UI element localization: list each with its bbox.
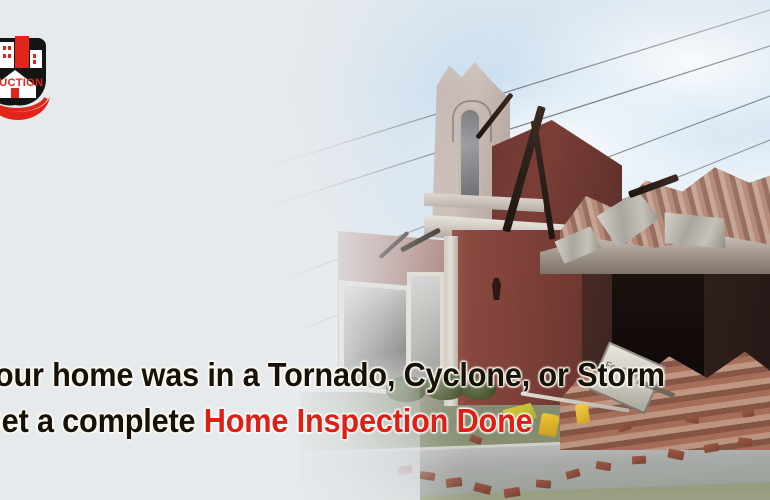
- headline-line-2-accent: Home Inspection Done: [204, 402, 533, 439]
- headline: your home was in a Tornado, Cyclone, or …: [0, 352, 678, 444]
- scattered-brick: [738, 437, 753, 446]
- headline-line-1-text: your home was in a Tornado, Cyclone, or …: [0, 356, 665, 393]
- storm-inspection-banner: For Sale: [0, 0, 770, 500]
- headline-line-2: Get a complete Home Inspection Done: [0, 398, 629, 444]
- logo-wordmark: TRUCTION: [0, 77, 43, 89]
- headline-line-1: your home was in a Tornado, Cyclone, or …: [0, 352, 629, 398]
- construction-company-logo[interactable]: TRUCTION: [0, 28, 70, 120]
- headline-line-2-prefix: Get a complete: [0, 402, 204, 439]
- scattered-brick: [536, 479, 552, 488]
- scattered-brick: [632, 456, 647, 465]
- scattered-brick: [742, 409, 755, 417]
